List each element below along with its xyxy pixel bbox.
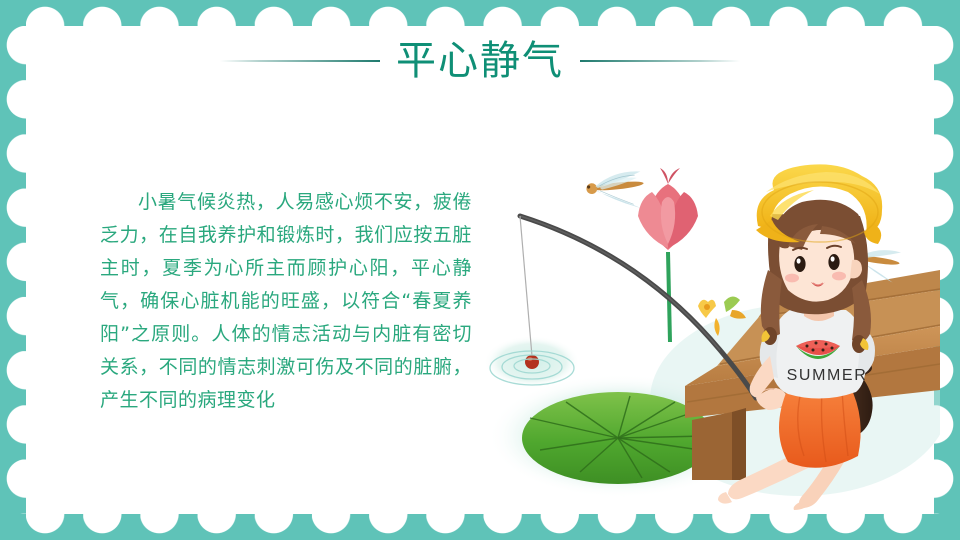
lotus-petals: [638, 168, 698, 250]
page-title: 平心静气: [380, 41, 580, 81]
title-rule-right: [580, 60, 740, 62]
title-rule-left: [220, 60, 380, 62]
dragonfly-upper: [585, 170, 646, 213]
illustration-girl-fishing: SUMMER: [470, 150, 940, 510]
shirt-text-summer: SUMMER: [787, 367, 868, 384]
body-paragraph: 小暑气候炎热，人易感心烦不安，疲倦乏力，在自我养护和锻炼时，我们应按五脏主时，夏…: [100, 186, 472, 417]
slide-root: 平心静气 小暑气候炎热，人易感心烦不安，疲倦乏力，在自我养护和锻炼时，我们应按五…: [0, 0, 960, 540]
fishing-line: [520, 216, 532, 356]
title-block: 平心静气: [0, 30, 960, 92]
